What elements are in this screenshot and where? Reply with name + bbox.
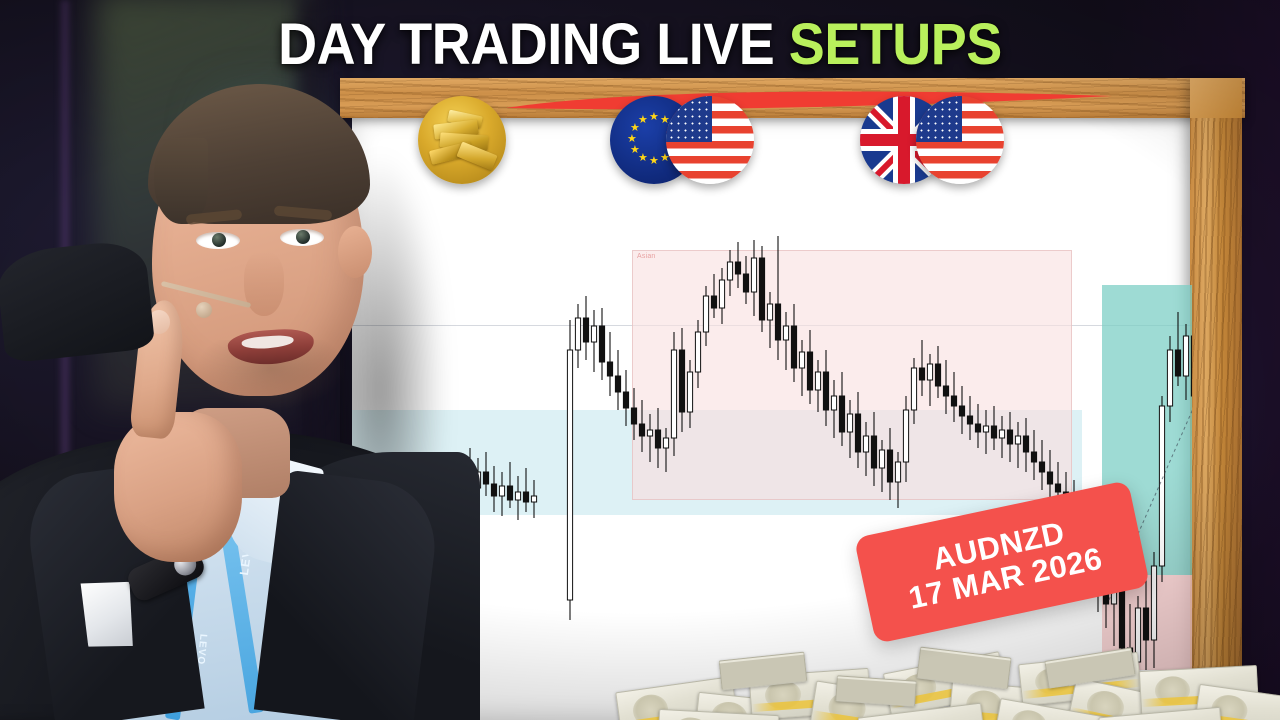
suit-lapel-right (254, 469, 442, 720)
us-flag-icon (666, 96, 754, 184)
gbpusd-flag-pair-icon[interactable] (860, 96, 948, 184)
eurusd-flag-pair-icon[interactable]: ★★★★★★★★★★★★ (610, 96, 698, 184)
us-flag-icon (916, 96, 1004, 184)
instrument-icons: ★★★★★★★★★★★★ (352, 96, 1192, 206)
title-green-part: SETUPS (789, 12, 1002, 77)
pupil-left (212, 233, 226, 247)
pupil-right (296, 230, 310, 244)
thumbnail-stage: Asian ★★★★★★★★★★★★ (0, 0, 1280, 720)
suit-sleeve-cuff (0, 238, 155, 363)
bill-stack (835, 675, 917, 707)
fist (114, 412, 242, 562)
cash-stacks (600, 638, 1280, 720)
ear (338, 226, 372, 278)
presenter: LEVO LEVO (0, 0, 470, 720)
